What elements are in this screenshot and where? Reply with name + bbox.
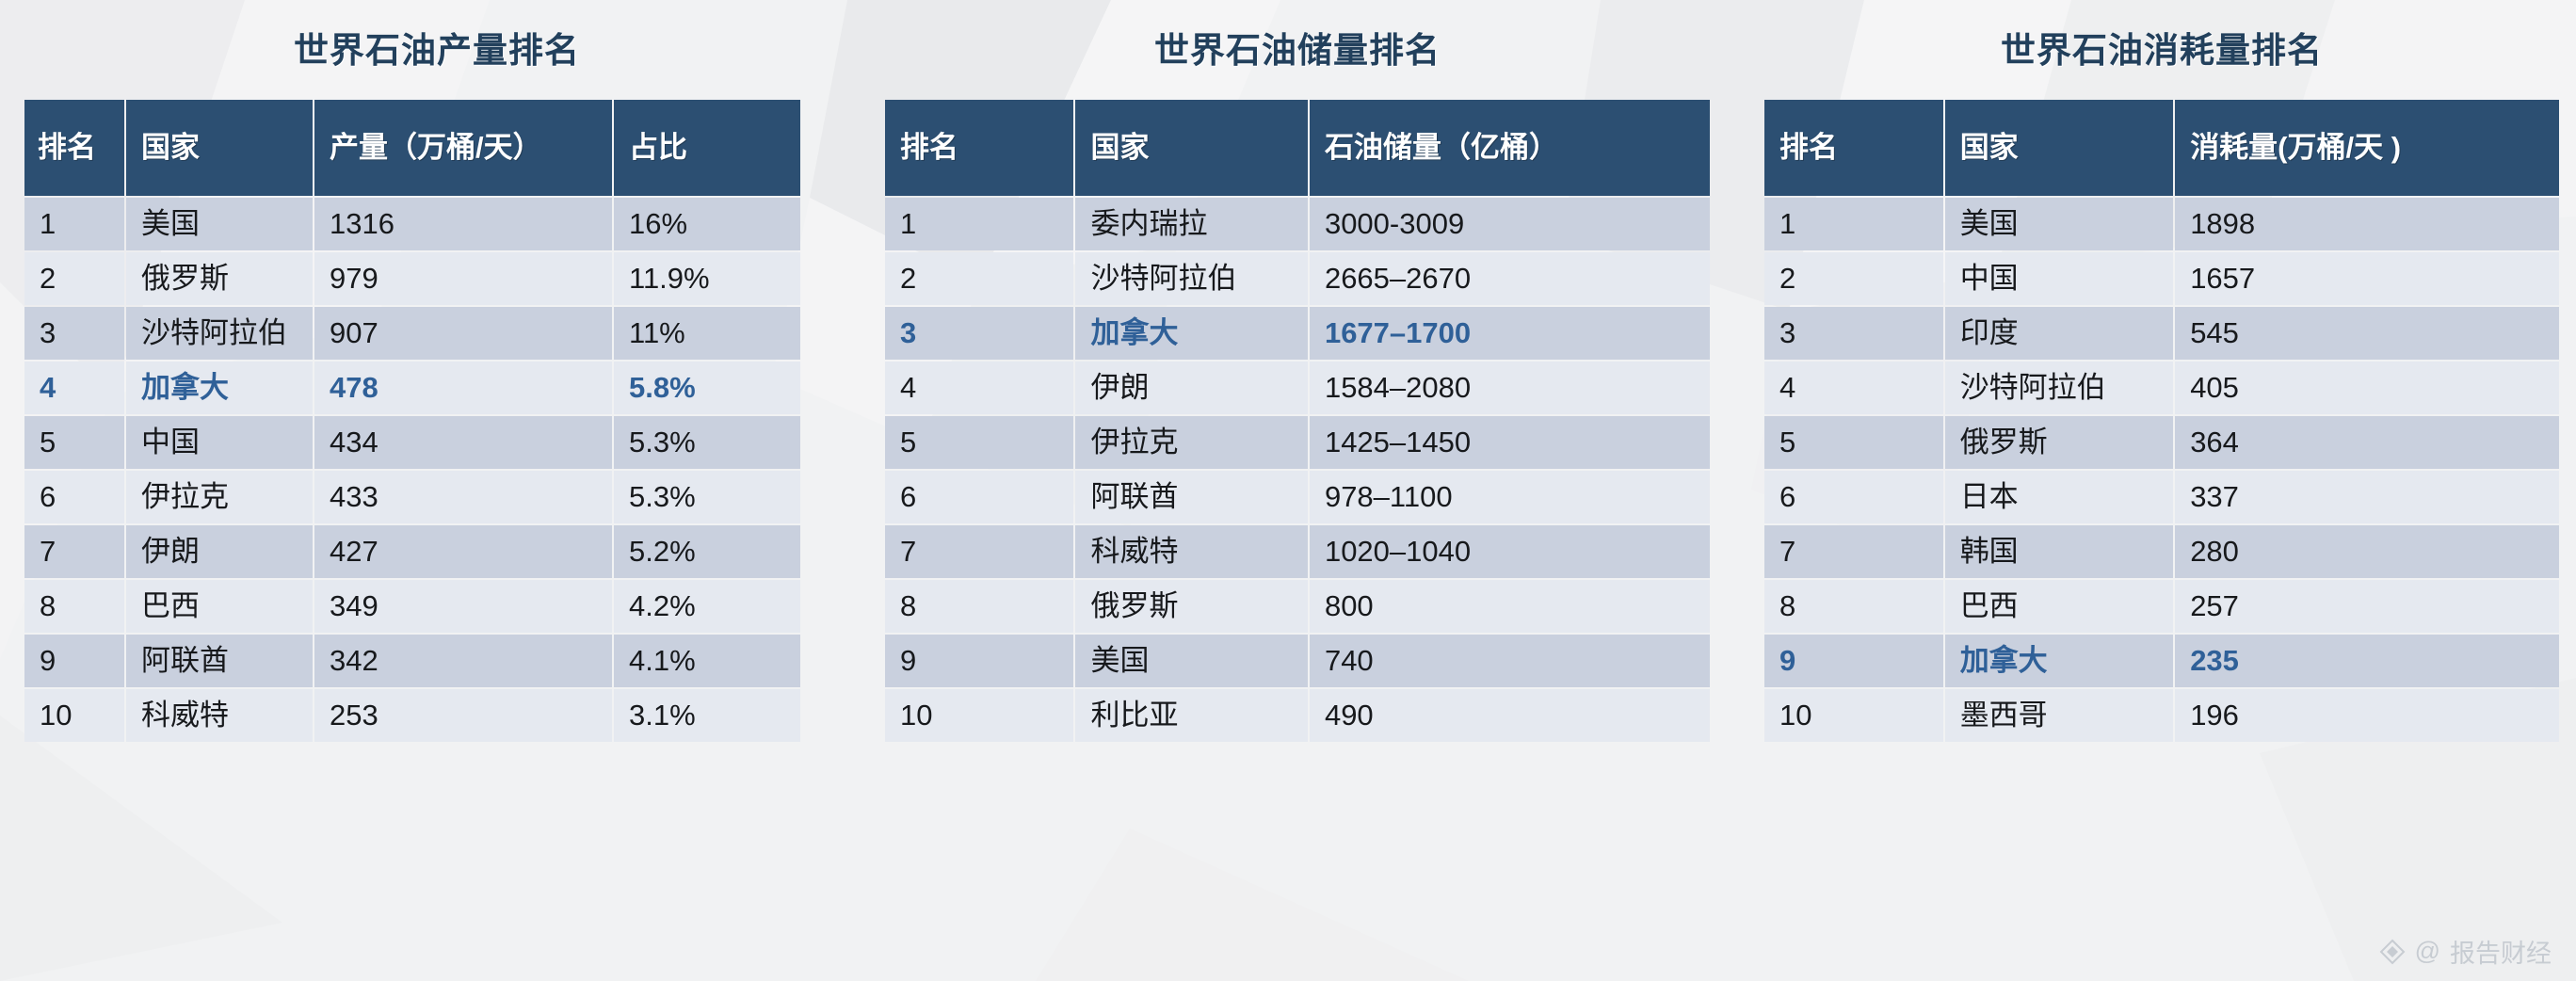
cell-country: 加拿大 (1075, 307, 1307, 360)
cell-country: 利比亚 (1075, 689, 1307, 742)
cell-rank: 10 (885, 689, 1073, 742)
cell-rank: 8 (885, 580, 1073, 633)
cell-reserves: 1020–1040 (1310, 525, 1710, 578)
cell-share: 5.8% (614, 362, 800, 414)
cell-rank: 4 (24, 362, 124, 414)
cell-reserves: 2665–2670 (1310, 252, 1710, 305)
cell-consumption: 337 (2175, 471, 2559, 523)
table-row[interactable]: 4沙特阿拉伯405 (1764, 362, 2559, 414)
cell-output: 427 (314, 525, 612, 578)
cell-rank: 2 (1764, 252, 1943, 305)
cell-output: 433 (314, 471, 612, 523)
table-row-highlighted[interactable]: 3加拿大1677–1700 (885, 307, 1710, 360)
cell-reserves: 978–1100 (1310, 471, 1710, 523)
table-oil-reserves: 排名 国家 石油储量（亿桶） 1委内瑞拉3000-3009 2沙特阿拉伯2665… (883, 98, 1712, 744)
cell-country: 巴西 (126, 580, 313, 633)
cell-country: 阿联酋 (126, 635, 313, 687)
cell-rank: 7 (885, 525, 1073, 578)
table-row-highlighted[interactable]: 4加拿大4785.8% (24, 362, 800, 414)
cell-rank: 2 (885, 252, 1073, 305)
cell-country: 墨西哥 (1945, 689, 2174, 742)
column-header-country: 国家 (1945, 100, 2174, 196)
cell-country: 中国 (126, 416, 313, 469)
cell-country: 沙特阿拉伯 (126, 307, 313, 360)
table-row[interactable]: 8巴西257 (1764, 580, 2559, 633)
cell-consumption: 257 (2175, 580, 2559, 633)
cell-country: 印度 (1945, 307, 2174, 360)
at-symbol: @ (2415, 937, 2440, 966)
cell-share: 3.1% (614, 689, 800, 742)
cell-rank: 1 (24, 198, 124, 250)
column-header-consumption: 消耗量(万桶/天 ) (2175, 100, 2559, 196)
cell-output: 1316 (314, 198, 612, 250)
cell-rank: 5 (24, 416, 124, 469)
cell-output: 979 (314, 252, 612, 305)
cell-output: 907 (314, 307, 612, 360)
cell-rank: 6 (885, 471, 1073, 523)
table-oil-production: 排名 国家 产量（万桶/天） 占比 1美国131616% 2俄罗斯97911.9… (23, 98, 802, 744)
cell-reserves: 800 (1310, 580, 1710, 633)
table-row[interactable]: 5伊拉克1425–1450 (885, 416, 1710, 469)
table-row[interactable]: 10科威特2533.1% (24, 689, 800, 742)
cell-share: 11% (614, 307, 800, 360)
column-header-rank: 排名 (885, 100, 1073, 196)
table-row[interactable]: 3印度545 (1764, 307, 2559, 360)
table-row[interactable]: 5中国4345.3% (24, 416, 800, 469)
cell-rank: 5 (885, 416, 1073, 469)
table-row[interactable]: 2中国1657 (1764, 252, 2559, 305)
table-row[interactable]: 3沙特阿拉伯90711% (24, 307, 800, 360)
cell-output: 434 (314, 416, 612, 469)
cell-country: 美国 (1945, 198, 2174, 250)
watermark-label: 报告财经 (2450, 933, 2552, 970)
diamond-logo-icon (2379, 939, 2406, 965)
cell-output: 349 (314, 580, 612, 633)
table-row[interactable]: 7韩国280 (1764, 525, 2559, 578)
table-row[interactable]: 8俄罗斯800 (885, 580, 1710, 633)
cell-output: 342 (314, 635, 612, 687)
cell-rank: 8 (1764, 580, 1943, 633)
cell-consumption: 545 (2175, 307, 2559, 360)
cell-country: 委内瑞拉 (1075, 198, 1307, 250)
table-header-row: 排名 国家 产量（万桶/天） 占比 (24, 100, 800, 196)
cell-consumption: 196 (2175, 689, 2559, 742)
cell-country: 伊朗 (126, 525, 313, 578)
table-row[interactable]: 10墨西哥196 (1764, 689, 2559, 742)
cell-consumption: 364 (2175, 416, 2559, 469)
cell-reserves: 1584–2080 (1310, 362, 1710, 414)
column-header-output: 产量（万桶/天） (314, 100, 612, 196)
panel-oil-reserves: 世界石油储量排名 排名 国家 石油储量（亿桶） 1委内瑞拉3000-3009 2… (883, 0, 1712, 744)
cell-reserves: 3000-3009 (1310, 198, 1710, 250)
table-row[interactable]: 1美国131616% (24, 198, 800, 250)
cell-consumption: 1898 (2175, 198, 2559, 250)
table-row[interactable]: 2沙特阿拉伯2665–2670 (885, 252, 1710, 305)
table-row[interactable]: 5俄罗斯364 (1764, 416, 2559, 469)
cell-share: 5.3% (614, 416, 800, 469)
watermark: @ 报告财经 (2379, 933, 2552, 970)
cell-country: 阿联酋 (1075, 471, 1307, 523)
cell-rank: 9 (885, 635, 1073, 687)
cell-share: 16% (614, 198, 800, 250)
cell-country: 中国 (1945, 252, 2174, 305)
cell-rank: 1 (885, 198, 1073, 250)
table-row[interactable]: 4伊朗1584–2080 (885, 362, 1710, 414)
table-row[interactable]: 6阿联酋978–1100 (885, 471, 1710, 523)
cell-rank: 7 (1764, 525, 1943, 578)
cell-reserves: 490 (1310, 689, 1710, 742)
cell-consumption: 1657 (2175, 252, 2559, 305)
cell-reserves: 1425–1450 (1310, 416, 1710, 469)
cell-country: 日本 (1945, 471, 2174, 523)
column-header-country: 国家 (1075, 100, 1307, 196)
table-row-highlighted[interactable]: 9加拿大235 (1764, 635, 2559, 687)
table-row[interactable]: 7伊朗4275.2% (24, 525, 800, 578)
panel-oil-consumption: 世界石油消耗量排名 排名 国家 消耗量(万桶/天 ) 1美国1898 2中国16… (1763, 0, 2561, 744)
table-oil-consumption: 排名 国家 消耗量(万桶/天 ) 1美国1898 2中国1657 3印度545 … (1763, 98, 2561, 744)
cell-share: 11.9% (614, 252, 800, 305)
cell-rank: 1 (1764, 198, 1943, 250)
cell-output: 478 (314, 362, 612, 414)
cell-country: 伊拉克 (1075, 416, 1307, 469)
table-row[interactable]: 2俄罗斯97911.9% (24, 252, 800, 305)
column-header-rank: 排名 (24, 100, 124, 196)
table-row[interactable]: 1美国1898 (1764, 198, 2559, 250)
cell-rank: 7 (24, 525, 124, 578)
page-title-reserves: 世界石油储量排名 (883, 0, 1712, 72)
table-row[interactable]: 7科威特1020–1040 (885, 525, 1710, 578)
cell-country: 科威特 (1075, 525, 1307, 578)
table-header-row: 排名 国家 消耗量(万桶/天 ) (1764, 100, 2559, 196)
cell-country: 俄罗斯 (126, 252, 313, 305)
cell-consumption: 235 (2175, 635, 2559, 687)
cell-rank: 3 (885, 307, 1073, 360)
cell-country: 沙特阿拉伯 (1075, 252, 1307, 305)
cell-rank: 5 (1764, 416, 1943, 469)
cell-country: 伊朗 (1075, 362, 1307, 414)
cell-rank: 8 (24, 580, 124, 633)
cell-reserves: 740 (1310, 635, 1710, 687)
cell-rank: 3 (24, 307, 124, 360)
cell-reserves: 1677–1700 (1310, 307, 1710, 360)
table-row[interactable]: 10利比亚490 (885, 689, 1710, 742)
cell-rank: 9 (1764, 635, 1943, 687)
cell-country: 俄罗斯 (1075, 580, 1307, 633)
table-row[interactable]: 9美国740 (885, 635, 1710, 687)
cell-country: 伊拉克 (126, 471, 313, 523)
cell-rank: 6 (24, 471, 124, 523)
table-row[interactable]: 1委内瑞拉3000-3009 (885, 198, 1710, 250)
cell-country: 加拿大 (126, 362, 313, 414)
cell-rank: 10 (1764, 689, 1943, 742)
table-header-row: 排名 国家 石油储量（亿桶） (885, 100, 1710, 196)
column-header-rank: 排名 (1764, 100, 1943, 196)
page-title-consumption: 世界石油消耗量排名 (1763, 0, 2561, 72)
table-row[interactable]: 6伊拉克4335.3% (24, 471, 800, 523)
cell-rank: 3 (1764, 307, 1943, 360)
cell-country: 俄罗斯 (1945, 416, 2174, 469)
cell-consumption: 405 (2175, 362, 2559, 414)
cell-share: 4.2% (614, 580, 800, 633)
cell-share: 5.3% (614, 471, 800, 523)
cell-rank: 10 (24, 689, 124, 742)
cell-rank: 4 (885, 362, 1073, 414)
page-title-production: 世界石油产量排名 (23, 0, 851, 72)
table-row[interactable]: 8巴西3494.2% (24, 580, 800, 633)
cell-share: 4.1% (614, 635, 800, 687)
table-row[interactable]: 6日本337 (1764, 471, 2559, 523)
cell-country: 韩国 (1945, 525, 2174, 578)
cell-consumption: 280 (2175, 525, 2559, 578)
cell-country: 美国 (1075, 635, 1307, 687)
cell-country: 科威特 (126, 689, 313, 742)
cell-rank: 9 (24, 635, 124, 687)
cell-country: 沙特阿拉伯 (1945, 362, 2174, 414)
column-header-reserves: 石油储量（亿桶） (1310, 100, 1710, 196)
cell-country: 加拿大 (1945, 635, 2174, 687)
column-header-share: 占比 (614, 100, 800, 196)
cell-rank: 2 (24, 252, 124, 305)
cell-country: 巴西 (1945, 580, 2174, 633)
cell-rank: 6 (1764, 471, 1943, 523)
cell-share: 5.2% (614, 525, 800, 578)
cell-country: 美国 (126, 198, 313, 250)
panel-oil-production: 世界石油产量排名 排名 国家 产量（万桶/天） 占比 1美国131616% 2俄… (23, 0, 851, 744)
cell-rank: 4 (1764, 362, 1943, 414)
table-row[interactable]: 9阿联酋3424.1% (24, 635, 800, 687)
cell-output: 253 (314, 689, 612, 742)
column-header-country: 国家 (126, 100, 313, 196)
